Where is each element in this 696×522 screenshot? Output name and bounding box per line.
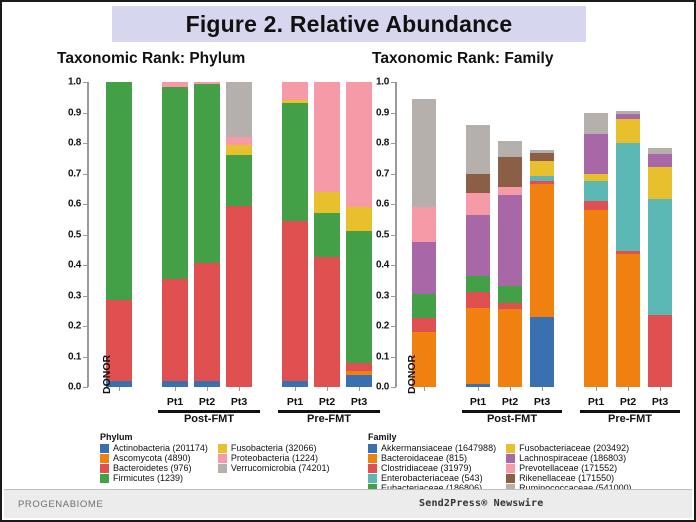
group-label: Post-FMT <box>158 413 260 425</box>
legend-column: Akkermansiaceae (1647988)Bacteroidaceae … <box>368 444 496 493</box>
legend-item-label: Firmicutes (1239) <box>113 474 183 483</box>
x-label-donor: DONOR <box>406 355 418 394</box>
legend-color-swatch <box>506 444 515 453</box>
bar-segment[interactable] <box>498 195 522 287</box>
legend-item-label: Rikenellaceae (171550) <box>519 474 614 483</box>
x-axis-tick-mark <box>207 387 208 391</box>
y-axis-tick-label: 1.0 <box>362 77 389 88</box>
x-label-post-pt1: Pt1 <box>158 396 192 408</box>
stacked-bar[interactable] <box>498 82 522 387</box>
bar-segment[interactable] <box>530 153 554 161</box>
bar-segment[interactable] <box>648 148 672 154</box>
y-axis-tick-mark <box>83 326 88 327</box>
legend-item-label: Bacteroidetes (976) <box>113 464 192 473</box>
y-axis-tick-mark <box>391 174 396 175</box>
y-axis-tick-mark <box>83 296 88 297</box>
legend-color-swatch <box>506 454 515 463</box>
y-axis-tick-mark <box>391 82 396 83</box>
x-axis-tick-mark <box>119 387 120 391</box>
bar-segment[interactable] <box>616 251 640 254</box>
y-axis-tick-label: 0.1 <box>362 351 389 362</box>
legend-item[interactable]: Bacteroidaceae (815) <box>368 454 496 463</box>
x-label-post-pt3: Pt3 <box>222 396 256 408</box>
bar-segment[interactable] <box>498 286 522 303</box>
legend-color-swatch <box>100 474 109 483</box>
y-axis-tick-mark <box>83 82 88 83</box>
y-axis-tick-label: 0.0 <box>54 382 81 393</box>
y-axis-tick-mark <box>83 204 88 205</box>
plot-area <box>88 82 380 387</box>
phylum-legend: Phylum Actinobacteria (201174)Ascomycota… <box>100 432 329 483</box>
group-label: Pre-FMT <box>580 413 680 425</box>
bar-segment[interactable] <box>616 254 640 387</box>
x-axis-tick-mark <box>424 387 425 391</box>
legend-item-label: Bacteroidaceae (815) <box>381 454 467 463</box>
bar-segment[interactable] <box>412 207 436 242</box>
legend-color-swatch <box>368 474 377 483</box>
x-label-post-pt2: Pt2 <box>190 396 224 408</box>
bar-segment[interactable] <box>412 318 436 332</box>
bar-segment[interactable] <box>282 103 308 220</box>
bar-segment[interactable] <box>314 213 340 257</box>
y-axis-tick-label: 0.3 <box>362 290 389 301</box>
bar-segment[interactable] <box>530 181 554 185</box>
x-axis-tick-mark <box>295 387 296 391</box>
legend-item-label: Lachnospiraceae (186803) <box>519 454 626 463</box>
y-axis-tick-label: 0.7 <box>362 168 389 179</box>
y-axis-tick-mark <box>391 296 396 297</box>
y-axis-tick-label: 0.6 <box>54 199 81 210</box>
bar-segment[interactable] <box>584 174 608 182</box>
bar-segment[interactable] <box>584 210 608 387</box>
bar-segment[interactable] <box>226 137 252 145</box>
legend-column: Actinobacteria (201174)Ascomycota (4890)… <box>100 444 208 483</box>
stacked-bar[interactable] <box>530 82 554 387</box>
legend-color-swatch <box>218 454 227 463</box>
x-label-post-pt2: Pt2 <box>493 396 527 408</box>
bar-segment[interactable] <box>530 176 554 180</box>
bar-segment[interactable] <box>412 242 436 294</box>
footer-brand: PROGENABIOME <box>18 499 103 510</box>
legend-item-label: Ascomycota (4890) <box>113 454 191 463</box>
legend-item-label: Verrucomicrobia (74201) <box>231 464 330 473</box>
y-axis-tick-label: 0.2 <box>362 321 389 332</box>
bar-segment[interactable] <box>616 119 640 143</box>
y-axis-tick-label: 0.7 <box>54 168 81 179</box>
y-axis-tick-mark <box>83 357 88 358</box>
bar-segment[interactable] <box>466 292 490 307</box>
x-axis-tick-mark <box>478 387 479 391</box>
legend-item[interactable]: Clostridiaceae (31979) <box>368 464 496 473</box>
bar-segment[interactable] <box>616 111 640 114</box>
legend-item-label: Fusobacteriaceae (203492) <box>519 444 629 453</box>
y-axis-tick-label: 0.5 <box>54 229 81 240</box>
legend-item-label: Akkermansiaceae (1647988) <box>381 444 496 453</box>
bar-segment[interactable] <box>314 257 340 387</box>
legend-color-swatch <box>100 464 109 473</box>
y-axis-tick-mark <box>391 143 396 144</box>
y-axis-tick-label: 0.5 <box>362 229 389 240</box>
legend-color-swatch <box>100 454 109 463</box>
bar-segment[interactable] <box>466 276 490 293</box>
legend-item[interactable]: Lachnospiraceae (186803) <box>506 454 632 463</box>
bar-segment[interactable] <box>530 317 554 387</box>
legend-item[interactable]: Bacteroidetes (976) <box>100 464 208 473</box>
bar-segment[interactable] <box>226 82 252 137</box>
bar-segment[interactable] <box>648 154 672 168</box>
legend-item-label: Clostridiaceae (31979) <box>381 464 472 473</box>
stacked-bar[interactable] <box>226 82 252 387</box>
y-axis-tick-mark <box>391 387 396 388</box>
legend-column: Fusobacteria (32066)Proteobacteria (1224… <box>218 444 330 483</box>
y-axis-tick-label: 0.9 <box>54 107 81 118</box>
legend-color-swatch <box>218 464 227 473</box>
y-axis-tick-label: 0.4 <box>362 260 389 271</box>
y-axis-tick-label: 0.3 <box>54 290 81 301</box>
bar-segment[interactable] <box>498 309 522 387</box>
bar-segment[interactable] <box>584 201 608 210</box>
y-axis-tick-mark <box>83 174 88 175</box>
bar-segment[interactable] <box>466 193 490 214</box>
y-axis-tick-mark <box>83 235 88 236</box>
x-label-pre-pt1: Pt1 <box>579 396 613 408</box>
y-axis-tick-mark <box>391 235 396 236</box>
y-axis-tick-label: 1.0 <box>54 77 81 88</box>
legend-item[interactable]: Proteobacteria (1224) <box>218 454 330 463</box>
y-axis-tick-mark <box>391 265 396 266</box>
y-axis-tick-mark <box>391 357 396 358</box>
y-axis-tick-mark <box>83 387 88 388</box>
y-axis-tick-mark <box>391 204 396 205</box>
legend-item[interactable]: Enterobacteriaceae (543) <box>368 474 496 483</box>
stacked-bar[interactable] <box>162 82 188 387</box>
stacked-bar[interactable] <box>412 82 436 387</box>
legend-item[interactable]: Fusobacteria (32066) <box>218 444 330 453</box>
bar-segment[interactable] <box>194 84 220 264</box>
legend-item-label: Proteobacteria (1224) <box>231 454 318 463</box>
bar-segment[interactable] <box>498 303 522 309</box>
bar-segment[interactable] <box>282 221 308 381</box>
legend-item[interactable]: Rikenellaceae (171550) <box>506 474 632 483</box>
legend-item[interactable]: Actinobacteria (201174) <box>100 444 208 453</box>
bar-segment[interactable] <box>162 279 188 381</box>
bar-segment[interactable] <box>616 114 640 119</box>
bar-segment[interactable] <box>162 82 188 87</box>
phylum-chart: 0.00.10.20.30.40.50.60.70.80.91.0DONORPt… <box>54 74 354 429</box>
x-label-pre-pt2: Pt2 <box>611 396 645 408</box>
x-axis-tick-mark <box>359 387 360 391</box>
legend-item-label: Actinobacteria (201174) <box>113 444 208 453</box>
bar-segment[interactable] <box>412 294 436 318</box>
legend-item-label: Fusobacteria (32066) <box>231 444 317 453</box>
bar-segment[interactable] <box>106 82 132 300</box>
x-axis-tick-mark <box>175 387 176 391</box>
family-panel-heading: Taxonomic Rank: Family <box>372 50 553 68</box>
stacked-bar[interactable] <box>466 82 490 387</box>
bar-segment[interactable] <box>466 308 490 384</box>
family-chart: 0.00.10.20.30.40.50.60.70.80.91.0DONORPt… <box>362 74 662 429</box>
legend-item-label: Prevotellaceae (171552) <box>519 464 617 473</box>
footer-newswire: Send2Press® Newswire <box>419 498 543 509</box>
bar-segment[interactable] <box>466 215 490 276</box>
legend-color-swatch <box>368 464 377 473</box>
y-axis-tick-label: 0.4 <box>54 260 81 271</box>
y-axis-tick-label: 0.1 <box>54 351 81 362</box>
stacked-bar[interactable] <box>314 82 340 387</box>
stacked-bar[interactable] <box>584 82 608 387</box>
family-legend-columns: Akkermansiaceae (1647988)Bacteroidaceae … <box>368 444 632 493</box>
stacked-bar[interactable] <box>648 82 672 387</box>
bar-segment[interactable] <box>466 125 490 174</box>
bar-segment[interactable] <box>282 82 308 100</box>
legend-item[interactable]: Akkermansiaceae (1647988) <box>368 444 496 453</box>
bar-segment[interactable] <box>314 192 340 213</box>
legend-color-swatch <box>506 474 515 483</box>
legend-color-swatch <box>368 444 377 453</box>
legend-column: Fusobacteriaceae (203492)Lachnospiraceae… <box>506 444 632 493</box>
x-axis-tick-mark <box>660 387 661 391</box>
stacked-bar[interactable] <box>282 82 308 387</box>
phylum-panel-heading: Taxonomic Rank: Phylum <box>57 50 245 68</box>
group-label: Post-FMT <box>462 413 562 425</box>
bar-segment[interactable] <box>498 141 522 156</box>
bar-segment[interactable] <box>226 206 252 387</box>
bar-segment[interactable] <box>530 184 554 317</box>
bar-segment[interactable] <box>226 155 252 205</box>
x-label-pre-pt1: Pt1 <box>278 396 312 408</box>
stacked-bar[interactable] <box>106 82 132 387</box>
y-axis-tick-label: 0.0 <box>362 382 389 393</box>
bar-segment[interactable] <box>648 199 672 315</box>
legend-item[interactable]: Prevotellaceae (171552) <box>506 464 632 473</box>
bar-segment[interactable] <box>648 167 672 199</box>
legend-color-swatch <box>368 454 377 463</box>
stacked-bar[interactable] <box>194 82 220 387</box>
x-label-donor: DONOR <box>101 355 113 394</box>
x-label-post-pt1: Pt1 <box>461 396 495 408</box>
y-axis-tick-label: 0.9 <box>362 107 389 118</box>
figure-container: Figure 2. Relative Abundance Taxonomic R… <box>0 0 696 522</box>
y-axis-tick-label: 0.2 <box>54 321 81 332</box>
x-label-post-pt3: Pt3 <box>525 396 559 408</box>
bar-segment[interactable] <box>530 161 554 176</box>
y-axis-tick-label: 0.8 <box>362 138 389 149</box>
phylum-legend-columns: Actinobacteria (201174)Ascomycota (4890)… <box>100 444 329 483</box>
x-axis-tick-mark <box>510 387 511 391</box>
bar-segment[interactable] <box>194 82 220 84</box>
bar-segment[interactable] <box>584 113 608 134</box>
y-axis-tick-mark <box>83 113 88 114</box>
y-axis-tick-mark <box>391 326 396 327</box>
x-axis-tick-mark <box>239 387 240 391</box>
legend-item[interactable]: Fusobacteriaceae (203492) <box>506 444 632 453</box>
bar-segment[interactable] <box>584 134 608 174</box>
bar-segment[interactable] <box>194 263 220 380</box>
bar-segment[interactable] <box>584 181 608 201</box>
x-label-pre-pt3: Pt3 <box>643 396 677 408</box>
legend-item[interactable]: Ascomycota (4890) <box>100 454 208 463</box>
bar-segment[interactable] <box>314 82 340 192</box>
bar-segment[interactable] <box>466 174 490 194</box>
y-axis-tick-label: 0.8 <box>54 138 81 149</box>
bar-segment[interactable] <box>226 145 252 156</box>
x-axis-tick-mark <box>327 387 328 391</box>
plot-area <box>396 82 684 387</box>
legend-item-label: Enterobacteriaceae (543) <box>381 474 483 483</box>
bar-segment[interactable] <box>282 100 308 104</box>
bar-segment[interactable] <box>162 87 188 279</box>
bar-segment[interactable] <box>530 150 554 153</box>
legend-color-swatch <box>506 464 515 473</box>
x-axis-tick-mark <box>542 387 543 391</box>
bar-segment[interactable] <box>412 99 436 207</box>
footer-bar: PROGENABIOME Send2Press® Newswire <box>4 489 692 518</box>
x-axis-tick-mark <box>596 387 597 391</box>
y-axis-tick-label: 0.6 <box>362 199 389 210</box>
legend-color-swatch <box>100 444 109 453</box>
figure-title-bar: Figure 2. Relative Abundance <box>112 6 586 42</box>
family-legend: Family Akkermansiaceae (1647988)Bacteroi… <box>368 432 632 493</box>
y-axis-tick-mark <box>83 143 88 144</box>
x-label-pre-pt2: Pt2 <box>310 396 344 408</box>
figure-title: Figure 2. Relative Abundance <box>186 11 513 38</box>
y-axis-tick-mark <box>391 113 396 114</box>
legend-item[interactable]: Verrucomicrobia (74201) <box>218 464 330 473</box>
x-axis-tick-mark <box>628 387 629 391</box>
stacked-bar[interactable] <box>616 82 640 387</box>
phylum-legend-title: Phylum <box>100 432 329 442</box>
y-axis-tick-mark <box>83 265 88 266</box>
family-legend-title: Family <box>368 432 632 442</box>
bar-segment[interactable] <box>616 143 640 251</box>
bar-segment[interactable] <box>498 187 522 195</box>
legend-color-swatch <box>218 444 227 453</box>
legend-item[interactable]: Firmicutes (1239) <box>100 474 208 483</box>
bar-segment[interactable] <box>648 315 672 387</box>
bar-segment[interactable] <box>498 157 522 188</box>
